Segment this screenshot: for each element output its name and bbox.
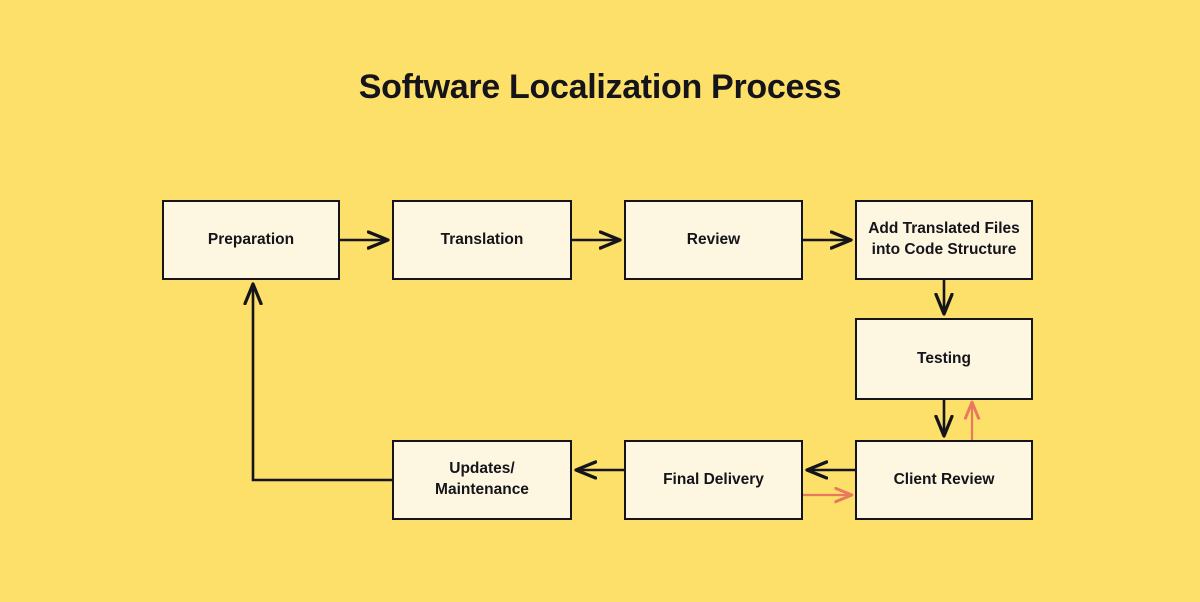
diagram-canvas: Software Localization Process — [0, 0, 1200, 602]
node-client-review[interactable]: Client Review — [855, 440, 1033, 520]
node-label-updates-maintenance: Updates/ Maintenance — [435, 459, 529, 501]
node-add-translated-files[interactable]: Add Translated Files into Code Structure — [855, 200, 1033, 280]
node-final-delivery[interactable]: Final Delivery — [624, 440, 803, 520]
node-label-review: Review — [687, 230, 740, 251]
node-label-preparation: Preparation — [208, 230, 294, 251]
node-label-client-review: Client Review — [894, 470, 995, 491]
node-review[interactable]: Review — [624, 200, 803, 280]
node-preparation[interactable]: Preparation — [162, 200, 340, 280]
node-label-testing: Testing — [917, 349, 971, 370]
node-updates-maintenance[interactable]: Updates/ Maintenance — [392, 440, 572, 520]
node-testing[interactable]: Testing — [855, 318, 1033, 400]
node-label-translation: Translation — [441, 230, 524, 251]
node-label-add-translated-files: Add Translated Files into Code Structure — [868, 219, 1020, 261]
node-translation[interactable]: Translation — [392, 200, 572, 280]
node-label-final-delivery: Final Delivery — [663, 470, 764, 491]
page-title: Software Localization Process — [0, 68, 1200, 107]
edge-updates-to-preparation — [253, 285, 392, 480]
